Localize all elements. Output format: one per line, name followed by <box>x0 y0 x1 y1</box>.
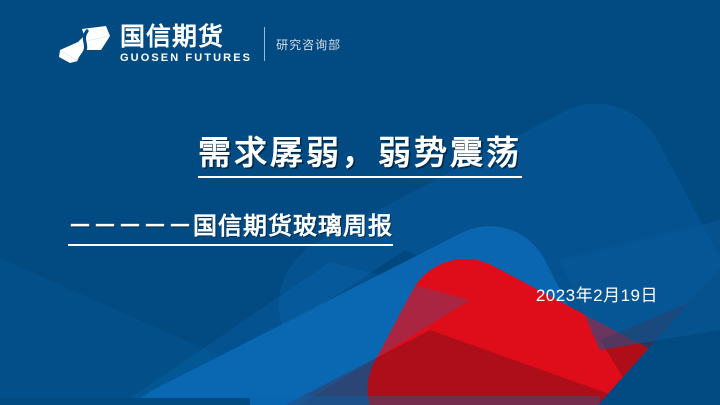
slide-sub-title-text: －－－－－国信期货玻璃周报 <box>68 206 393 246</box>
brand-name-cn: 国信期货 <box>120 24 252 50</box>
brand-name-en: GUOSEN FUTURES <box>120 52 252 64</box>
slide-sub-title: －－－－－国信期货玻璃周报 <box>68 206 393 246</box>
brand-divider <box>264 27 265 61</box>
slide-main-title-text: 需求孱弱，弱势震荡 <box>198 126 522 178</box>
slide-date: 2023年2月19日 <box>536 281 658 306</box>
department-label: 研究咨询部 <box>276 36 341 53</box>
slide-main-title: 需求孱弱，弱势震荡 <box>0 126 720 178</box>
brand-text: 国信期货 GUOSEN FUTURES <box>120 24 252 63</box>
presentation-title-slide: 国信期货 GUOSEN FUTURES 研究咨询部 需求孱弱，弱势震荡 －－－－… <box>0 0 720 405</box>
brand-logo: 国信期货 GUOSEN FUTURES 研究咨询部 <box>56 18 341 70</box>
guosen-futures-logo-mark-icon <box>56 20 112 68</box>
